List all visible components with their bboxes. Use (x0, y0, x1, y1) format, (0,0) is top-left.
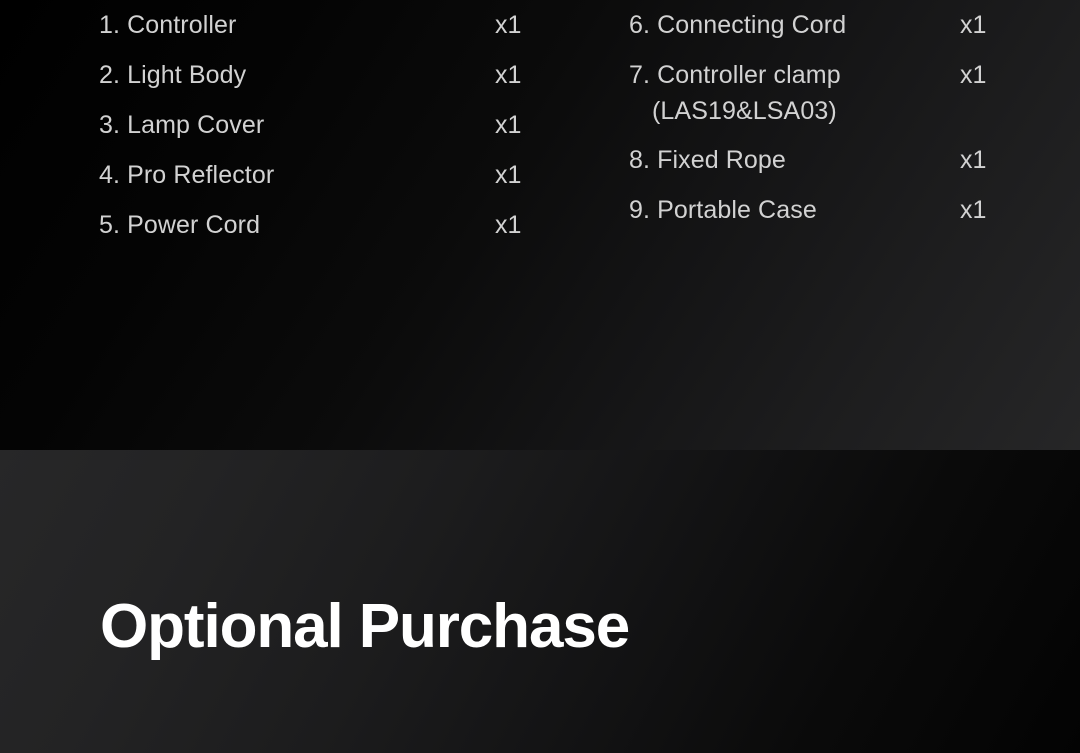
content-item-quantity: x1 (495, 0, 521, 50)
content-item-quantity: x1 (495, 100, 521, 150)
content-item-3: 3. Lamp Cover x1 (99, 100, 529, 150)
content-item-quantity: x1 (960, 185, 986, 235)
content-item-7: 7. Controller clamp x1 (LAS19&LSA03) (629, 50, 1029, 135)
content-item-6: 6. Connecting Cord x1 (629, 0, 1029, 50)
contents-column-left: 1. Controller x1 2. Light Body x1 3. Lam… (99, 0, 529, 250)
content-item-label: 8. Fixed Rope (629, 135, 786, 185)
content-item-quantity: x1 (960, 50, 986, 100)
content-item-8: 8. Fixed Rope x1 (629, 135, 1029, 185)
content-item-quantity: x1 (960, 135, 986, 185)
content-item-label: 1. Controller (99, 0, 236, 50)
content-item-quantity: x1 (495, 150, 521, 200)
content-item-quantity: x1 (960, 0, 986, 50)
content-item-4: 4. Pro Reflector x1 (99, 150, 529, 200)
content-item-label: 6. Connecting Cord (629, 0, 846, 50)
content-item-model-codes: (LAS19&LSA03) (652, 86, 837, 136)
contents-column-right: 6. Connecting Cord x1 7. Controller clam… (629, 0, 1029, 235)
content-item-label: 4. Pro Reflector (99, 150, 274, 200)
content-item-1: 1. Controller x1 (99, 0, 529, 50)
package-contents-page: 1. Controller x1 2. Light Body x1 3. Lam… (0, 0, 1080, 753)
content-item-label: 9. Portable Case (629, 185, 817, 235)
content-item-2: 2. Light Body x1 (99, 50, 529, 100)
content-item-label: 3. Lamp Cover (99, 100, 264, 150)
package-contents-section: 1. Controller x1 2. Light Body x1 3. Lam… (0, 0, 1080, 450)
contents-columns: 1. Controller x1 2. Light Body x1 3. Lam… (0, 0, 1080, 450)
optional-purchase-heading: Optional Purchase (100, 591, 629, 663)
content-item-quantity: x1 (495, 50, 521, 100)
content-item-label: 5. Power Cord (99, 200, 260, 250)
content-item-9: 9. Portable Case x1 (629, 185, 1029, 235)
content-item-quantity: x1 (495, 200, 521, 250)
content-item-5: 5. Power Cord x1 (99, 200, 529, 250)
content-item-label: 2. Light Body (99, 50, 246, 100)
